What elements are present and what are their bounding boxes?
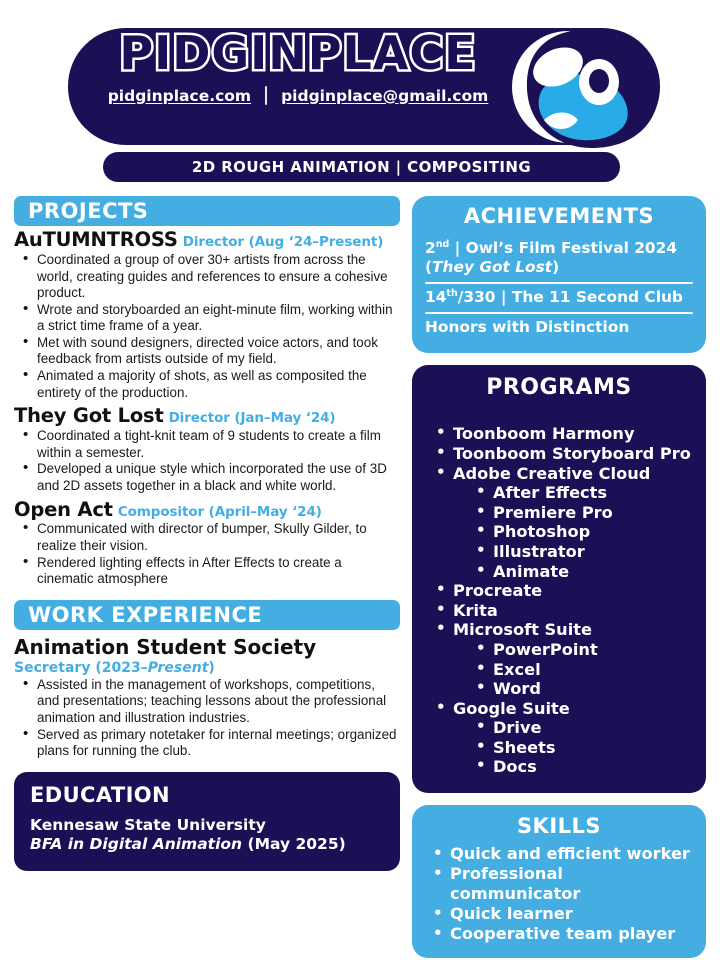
list-item: Quick learner xyxy=(430,904,694,924)
website-link[interactable]: pidginplace.com xyxy=(108,87,251,105)
list-item: After Effects xyxy=(474,483,696,503)
contact-row: pidginplace.com pidginplace@gmail.com xyxy=(88,86,508,105)
project-role: Director (Aug ‘24–Present) xyxy=(183,234,384,250)
section-header-programs: PROGRAMS xyxy=(422,375,696,400)
list-item: Excel xyxy=(474,660,696,680)
programs-sublist: PowerPoint Excel Word xyxy=(434,640,696,699)
email-link[interactable]: pidginplace@gmail.com xyxy=(281,87,488,105)
list-item: Sheets xyxy=(474,738,696,758)
achievement-rank: 14 xyxy=(425,288,446,306)
divider xyxy=(425,312,693,314)
list-item: Professional communicator xyxy=(430,864,694,904)
divider xyxy=(425,282,693,284)
education-degree-date: (May 2025) xyxy=(247,835,345,853)
list-item: Quick and efficient worker xyxy=(430,844,694,864)
list-item: Premiere Pro xyxy=(474,503,696,523)
section-header-work-experience: WORK EXPERIENCE xyxy=(14,600,400,630)
programs-list: Toonboom Harmony Toonboom Storyboard Pro… xyxy=(422,424,696,777)
achievement-rank: 2 xyxy=(425,239,436,257)
work-role: Secretary (2023–Present) xyxy=(14,660,400,676)
work-role-prefix: Secretary (2023– xyxy=(14,660,148,676)
project-role: Compositor (April–May ‘24) xyxy=(118,504,322,520)
skills-card: SKILLS Quick and efficient worker Profes… xyxy=(412,805,706,958)
work-role-suffix: ) xyxy=(208,660,214,676)
list-item: Assisted in the management of workshops,… xyxy=(14,677,400,727)
skills-list: Quick and efficient worker Professional … xyxy=(424,844,694,944)
list-item: Communicated with director of bumper, Sk… xyxy=(14,521,400,554)
list-item: Animated a majority of shots, as well as… xyxy=(14,368,400,401)
achievement-item: 2nd | Owl’s Film Festival 2024 (They Got… xyxy=(425,235,693,282)
project-title: AuTUMNTROSS xyxy=(14,228,178,251)
project-heading: They Got LostDirector (Jan–May ‘24) xyxy=(14,405,400,427)
project-entry: They Got LostDirector (Jan–May ‘24) Coor… xyxy=(14,405,400,494)
contact-separator xyxy=(265,86,267,105)
project-title: They Got Lost xyxy=(14,404,164,427)
project-heading: AuTUMNTROSSDirector (Aug ‘24–Present) xyxy=(14,229,400,251)
list-item: Coordinated a group of over 30+ artists … xyxy=(14,252,400,302)
programs-sublist: Drive Sheets Docs xyxy=(434,718,696,777)
achievement-rank-suffix: nd xyxy=(436,239,450,250)
list-item: Photoshop xyxy=(474,522,696,542)
list-item: Microsoft Suite xyxy=(434,620,696,640)
achievement-rank-suffix: th xyxy=(446,288,457,299)
list-item: Rendered lighting effects in After Effec… xyxy=(14,555,400,588)
list-item: Served as primary notetaker for internal… xyxy=(14,727,400,760)
work-bullets: Assisted in the management of workshops,… xyxy=(14,677,400,760)
project-entry: AuTUMNTROSSDirector (Aug ‘24–Present) Co… xyxy=(14,229,400,401)
programs-sublist: After Effects Premiere Pro Photoshop Ill… xyxy=(434,483,696,581)
pigeon-head-icon xyxy=(498,24,664,150)
list-item: Animate xyxy=(474,562,696,582)
achievement-text: Honors with Distinction xyxy=(425,318,629,336)
section-header-projects: PROJECTS xyxy=(14,196,400,226)
work-role-italic: Present xyxy=(148,660,209,676)
project-entry: Open ActCompositor (April–May ‘24) Commu… xyxy=(14,499,400,588)
achievements-card: ACHIEVEMENTS 2nd | Owl’s Film Festival 2… xyxy=(412,196,706,353)
list-item: Developed a unique style which incorpora… xyxy=(14,461,400,494)
resume-header: PIDGINPLACE pidginplace.com pidginplace@… xyxy=(0,0,720,186)
section-header-skills: SKILLS xyxy=(424,814,694,838)
project-role: Director (Jan–May ‘24) xyxy=(169,410,336,426)
programs-card: PROGRAMS Toonboom Harmony Toonboom Story… xyxy=(412,365,706,793)
right-column: ACHIEVEMENTS 2nd | Owl’s Film Festival 2… xyxy=(412,196,706,958)
achievement-text-after: ) xyxy=(552,258,559,276)
list-item: Coordinated a tight-knit team of 9 stude… xyxy=(14,428,400,461)
left-column: PROJECTS AuTUMNTROSSDirector (Aug ‘24–Pr… xyxy=(14,196,400,871)
project-bullets: Coordinated a group of over 30+ artists … xyxy=(14,252,400,401)
education-school: Kennesaw State University xyxy=(30,816,384,835)
project-title: Open Act xyxy=(14,498,113,521)
achievement-text: /330 | The 11 Second Club xyxy=(458,288,683,306)
section-header-achievements: ACHIEVEMENTS xyxy=(425,204,693,228)
achievement-film-title: They Got Lost xyxy=(432,258,552,276)
list-item: Wrote and storyboarded an eight-minute f… xyxy=(14,302,400,335)
achievement-item: 14th/330 | The 11 Second Club xyxy=(425,284,693,312)
resume-page: PIDGINPLACE pidginplace.com pidginplace@… xyxy=(0,0,720,960)
list-item: Docs xyxy=(474,757,696,777)
list-item: PowerPoint xyxy=(474,640,696,660)
list-item: Word xyxy=(474,679,696,699)
brand-wordmark: PIDGINPLACE xyxy=(88,26,508,80)
list-item: Google Suite xyxy=(434,699,696,719)
achievement-item: Honors with Distinction xyxy=(425,314,693,342)
list-item: Toonboom Storyboard Pro xyxy=(434,444,696,464)
list-item: Procreate xyxy=(434,581,696,601)
education-degree: BFA in Digital Animation (May 2025) xyxy=(30,835,384,854)
project-bullets: Coordinated a tight-knit team of 9 stude… xyxy=(14,428,400,494)
tagline-bar: 2D ROUGH ANIMATION | COMPOSITING xyxy=(103,152,620,182)
education-card: EDUCATION Kennesaw State University BFA … xyxy=(14,772,400,871)
list-item: Cooperative team player xyxy=(430,924,694,944)
education-degree-name: BFA in Digital Animation xyxy=(30,835,242,853)
list-item: Adobe Creative Cloud xyxy=(434,464,696,484)
project-heading: Open ActCompositor (April–May ‘24) xyxy=(14,499,400,521)
section-header-education: EDUCATION xyxy=(30,783,384,807)
list-item: Toonboom Harmony xyxy=(434,424,696,444)
list-item: Illustrator xyxy=(474,542,696,562)
list-item: Krita xyxy=(434,601,696,621)
list-item: Met with sound designers, directed voice… xyxy=(14,335,400,368)
list-item: Drive xyxy=(474,718,696,738)
project-bullets: Communicated with director of bumper, Sk… xyxy=(14,521,400,587)
work-organization: Animation Student Society xyxy=(14,636,400,659)
